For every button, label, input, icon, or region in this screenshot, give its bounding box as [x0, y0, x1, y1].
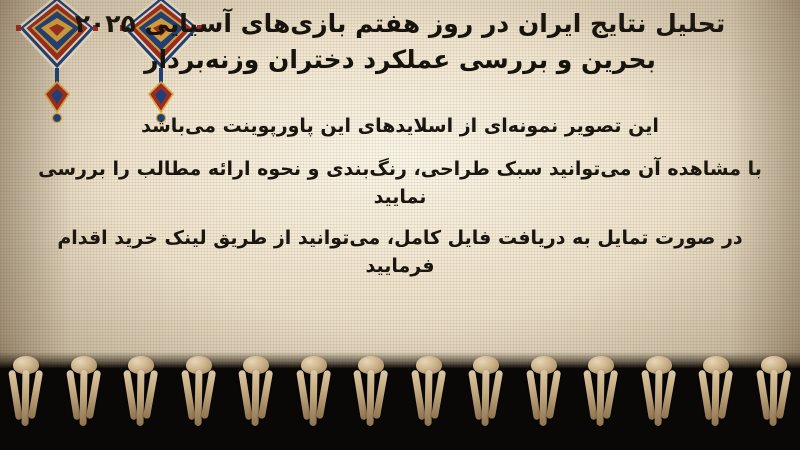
fringe-strand: [79, 370, 87, 426]
fringe-strand: [641, 370, 656, 420]
fringe-strand: [143, 370, 158, 419]
fringe-strand: [411, 370, 426, 420]
fringe-tassel: [234, 354, 278, 434]
fringe-strand: [539, 370, 547, 426]
fringe-strand: [718, 370, 733, 419]
slide-title: تحلیل نتایج ایران در روز هفتم بازی‌های آ…: [0, 6, 800, 77]
fringe-strand: [181, 370, 196, 420]
fringe-strand: [603, 370, 618, 419]
fringe-strand: [546, 370, 561, 419]
fringe-tassel: [62, 354, 106, 434]
fringe-tassel: [464, 354, 508, 434]
fringe-strand: [431, 370, 446, 419]
fringe-strand: [200, 370, 215, 419]
slide-canvas: تحلیل نتایج ایران در روز هفتم بازی‌های آ…: [0, 0, 800, 450]
fringe-strand: [28, 370, 43, 419]
fringe-tassel: [349, 354, 393, 434]
fringe-strand: [373, 370, 388, 419]
fringe-tassel: [637, 354, 681, 434]
fringe-strand: [526, 370, 541, 420]
fringe-tassel: [579, 354, 623, 434]
fringe-tassel: [119, 354, 163, 434]
body-line-3: در صورت تمایل به دریافت فایل کامل، می‌تو…: [26, 224, 774, 281]
fringe-strand: [296, 370, 311, 420]
fringe-strand: [424, 370, 432, 426]
fringe-strand: [316, 370, 331, 419]
fringe-tassel: [752, 354, 796, 434]
fringe-strand: [66, 370, 81, 420]
textile-fringe: [0, 354, 800, 434]
fringe-strand: [85, 370, 100, 419]
fringe-strand: [194, 370, 202, 426]
fringe-strand: [776, 370, 791, 419]
fringe-tassel: [407, 354, 451, 434]
fringe-tassel: [522, 354, 566, 434]
fringe-strand: [309, 370, 317, 426]
fringe-strand: [756, 370, 771, 420]
fringe-tassel: [4, 354, 48, 434]
fringe-strand: [488, 370, 503, 419]
fringe-tassel: [292, 354, 336, 434]
fringe-tassel: [694, 354, 738, 434]
body-line-1: این تصویر نمونه‌ای از اسلایدهای این پاور…: [26, 112, 774, 141]
fringe-strand: [258, 370, 273, 419]
body-line-2: با مشاهده آن می‌توانید سبک طراحی، رنگ‌بن…: [26, 155, 774, 212]
fringe-tassel: [177, 354, 221, 434]
fringe-strand: [661, 370, 676, 419]
slide-body: این تصویر نمونه‌ای از اسلایدهای این پاور…: [0, 112, 800, 293]
